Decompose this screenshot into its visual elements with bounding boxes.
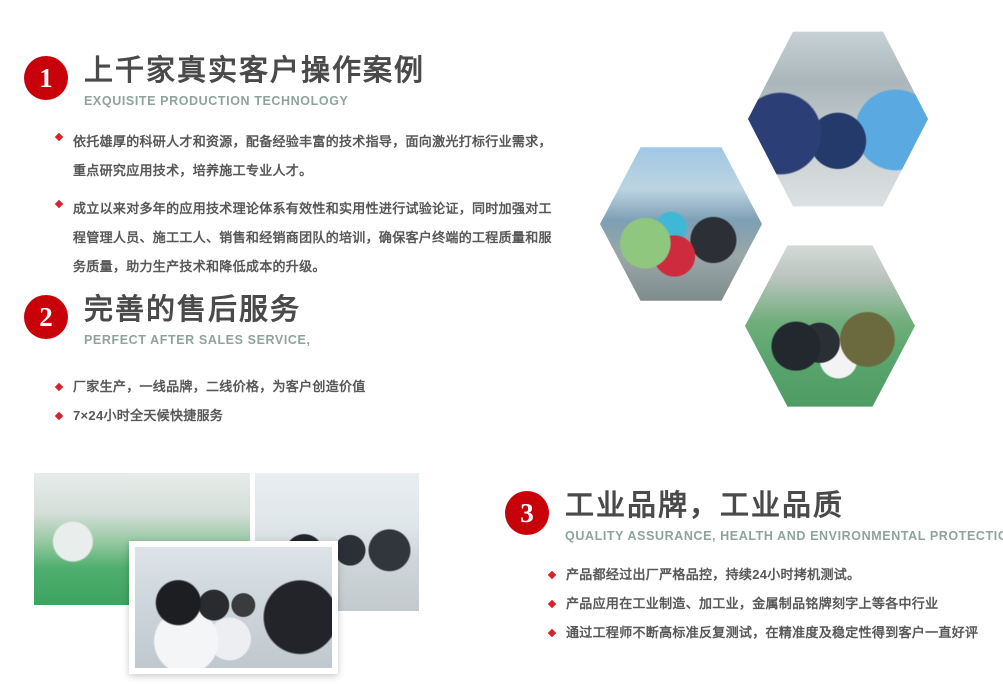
customers-outdoor-photo-surface [600,144,762,304]
section-1-title-group: 上千家真实客户操作案例 EXQUISITE PRODUCTION TECHNOL… [84,52,425,108]
list-item: 厂家生产，一线品牌，二线价格，为客户创造价值 [56,377,536,397]
diamond-bullet-icon [548,629,556,637]
diamond-bullet-icon [548,571,556,579]
section-2-title-cn: 完善的售后服务 [84,291,311,329]
list-item: 成立以来对多年的应用技术理论体系有效性和实用性进行试验论证，同时加强对工程管理人… [56,194,556,281]
list-item: 7×24小时全天候快捷服务 [56,406,536,426]
section-1-bullet-2: 成立以来对多年的应用技术理论体系有效性和实用性进行试验论证，同时加强对工程管理人… [73,194,556,281]
section-1-bullet-list: 依托雄厚的科研人才和资源，配备经验丰富的技术指导，面向激光打标行业需求，重点研究… [56,127,556,290]
workshop-demo-photo [745,242,915,410]
diamond-bullet-icon [55,200,63,208]
list-item: 产品都经过出厂严格品控，持续24小时拷机测试。 [549,565,979,585]
section-3-bullet-list: 产品都经过出厂严格品控，持续24小时拷机测试。 产品应用在工业制造、加工业，金属… [549,565,979,652]
diamond-bullet-icon [55,133,63,141]
section-2-heading: 2 完善的售后服务 PERFECT AFTER SALES SERVICE, [24,291,311,347]
section-3-bullet-2: 产品应用在工业制造、加工业，金属制品铭牌刻字上等各中行业 [566,594,938,614]
diamond-bullet-icon [55,412,63,420]
section-1-bullet-1: 依托雄厚的科研人才和资源，配备经验丰富的技术指导，面向激光打标行业需求，重点研究… [73,127,556,185]
call-center-photo [129,541,338,674]
section-1-title-en: EXQUISITE PRODUCTION TECHNOLOGY [84,94,425,108]
section-2-title-en: PERFECT AFTER SALES SERVICE, [84,333,311,347]
section-2-bullet-2: 7×24小时全天候快捷服务 [73,406,223,426]
section-3-title-en: QUALITY ASSURANCE, HEALTH AND ENVIRONMEN… [565,529,1003,543]
section-2-number-badge: 2 [24,295,68,339]
section-2-title-group: 完善的售后服务 PERFECT AFTER SALES SERVICE, [84,291,311,347]
customers-outdoor-photo [600,144,762,304]
section-1-heading: 1 上千家真实客户操作案例 EXQUISITE PRODUCTION TECHN… [24,52,425,108]
list-item: 通过工程师不断高标准反复测试，在精准度及稳定性得到客户一直好评 [549,623,979,643]
machine-operation-photo [748,28,928,210]
section-2-bullet-list: 厂家生产，一线品牌，二线价格，为客户创造价值 7×24小时全天候快捷服务 [56,377,536,435]
section-3-bullet-3: 通过工程师不断高标准反复测试，在精准度及稳定性得到客户一直好评 [566,623,978,643]
section-2-bullet-1: 厂家生产，一线品牌，二线价格，为客户创造价值 [73,377,366,397]
call-center-photo-surface [135,547,332,668]
diamond-bullet-icon [548,600,556,608]
list-item: 依托雄厚的科研人才和资源，配备经验丰富的技术指导，面向激光打标行业需求，重点研究… [56,127,556,185]
machine-operation-photo-surface [748,28,928,210]
workshop-demo-photo-surface [745,242,915,410]
section-3-heading: 3 工业品牌，工业品质 QUALITY ASSURANCE, HEALTH AN… [505,487,1003,543]
section-3-title-cn: 工业品牌，工业品质 [565,487,1003,525]
section-1-number-badge: 1 [24,56,68,100]
section-3-number-badge: 3 [505,491,549,535]
list-item: 产品应用在工业制造、加工业，金属制品铭牌刻字上等各中行业 [549,594,979,614]
diamond-bullet-icon [55,383,63,391]
section-1-title-cn: 上千家真实客户操作案例 [84,52,425,90]
section-3-title-group: 工业品牌，工业品质 QUALITY ASSURANCE, HEALTH AND … [565,487,1003,543]
section-3-bullet-1: 产品都经过出厂严格品控，持续24小时拷机测试。 [566,565,860,585]
